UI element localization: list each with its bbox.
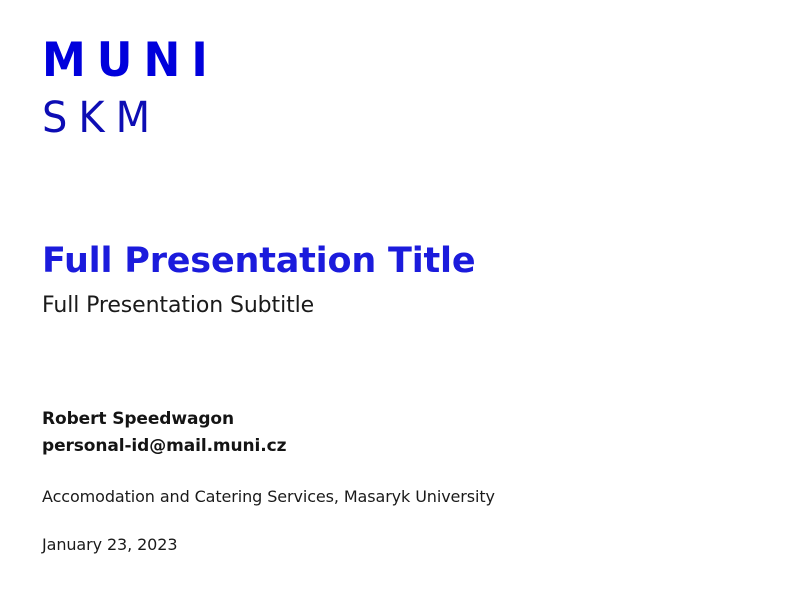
muni-skm-logo: MUNI SKM: [42, 36, 219, 138]
logo-muni-wordmark: MUNI: [42, 36, 219, 86]
logo-skm-wordmark: SKM: [42, 96, 219, 141]
presentation-title-slide: MUNI SKM Full Presentation Title Full Pr…: [0, 0, 794, 596]
page-subtitle: Full Presentation Subtitle: [42, 292, 742, 320]
author-email: personal-id@mail.muni.cz: [42, 433, 742, 460]
title-block: Full Presentation Title Full Presentatio…: [42, 242, 742, 320]
presentation-date: January 23, 2023: [42, 534, 742, 556]
presenter-meta-block: Robert Speedwagon personal-id@mail.muni.…: [42, 406, 742, 557]
page-title: Full Presentation Title: [42, 242, 742, 281]
author-name: Robert Speedwagon: [42, 406, 742, 433]
affiliation-text: Accomodation and Catering Services, Masa…: [42, 486, 742, 508]
